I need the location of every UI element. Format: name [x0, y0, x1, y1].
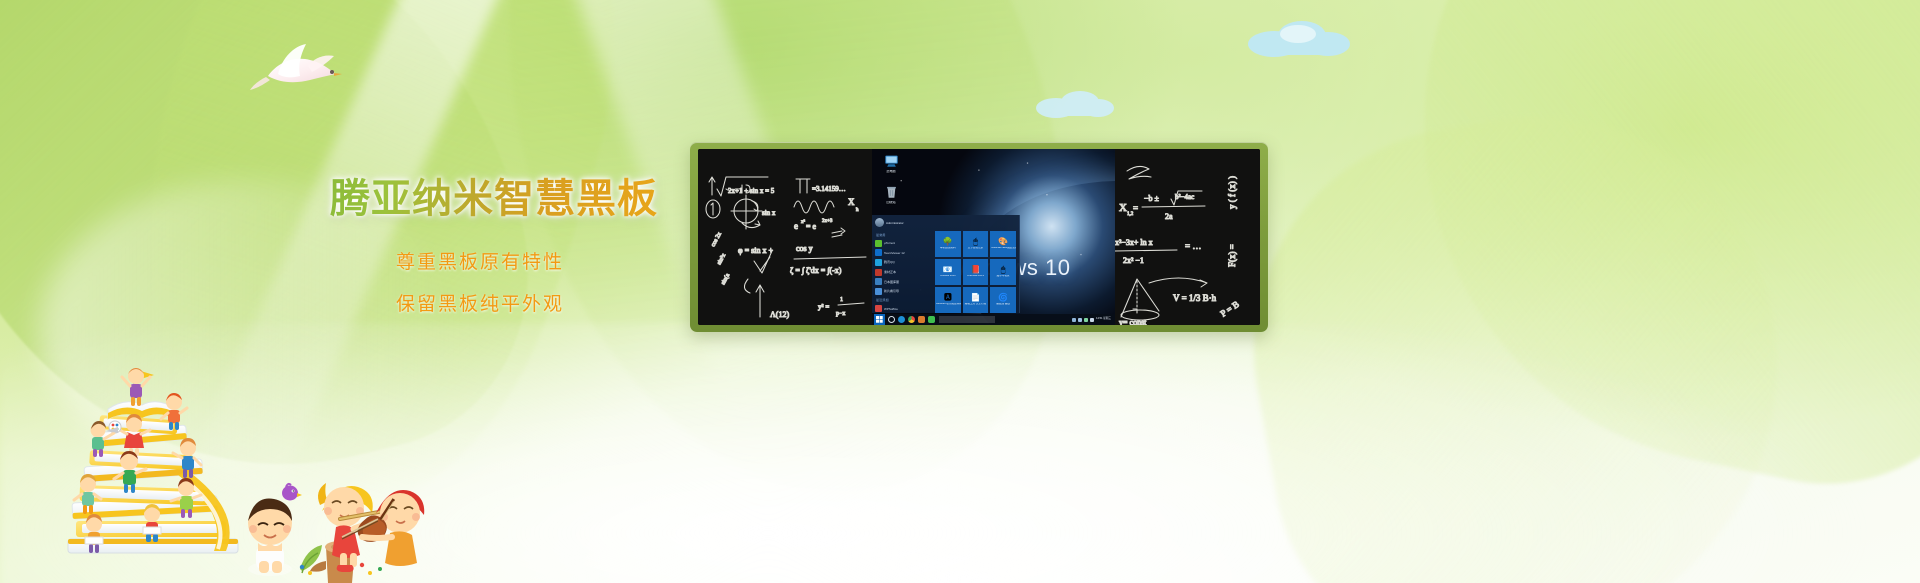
svg-text:=: = — [1133, 203, 1138, 213]
tile-label: 藏甲草花区 — [996, 275, 1011, 278]
qq-app-icon — [875, 259, 882, 266]
tile-label: Autocad 软件图纸转换工具 — [935, 303, 961, 306]
onenote-icon: 📕 — [971, 266, 981, 274]
app-list-item[interactable]: TeamViewer 12 — [875, 249, 930, 258]
svg-text:= …: = … — [1185, 241, 1201, 251]
autocad-icon: 🎨 — [998, 238, 1008, 246]
recycle-bin-label: 回收站 — [876, 201, 906, 205]
svg-text:Λ(12): Λ(12) — [770, 310, 789, 319]
svg-text:V = 1/3 B·h: V = 1/3 B·h — [1173, 293, 1217, 303]
confetti-dot — [378, 567, 382, 571]
app-list-item[interactable]: WPSoffice — [875, 304, 930, 313]
start-tile[interactable]: 📧 Outlook 2013 — [935, 259, 961, 285]
svg-text:2a: 2a — [1165, 212, 1173, 221]
app-list-item[interactable]: 新片看引导 — [875, 287, 930, 296]
confetti-dot — [368, 571, 372, 575]
svg-text:2x² −1: 2x² −1 — [1123, 256, 1144, 265]
svg-text:1: 1 — [840, 297, 843, 303]
teamviewer-app-icon — [875, 249, 882, 256]
windows-logo-icon — [876, 316, 883, 323]
kid-listening — [248, 498, 292, 576]
start-tile[interactable]: 🅰 Autocad 软件图纸转换工具 — [935, 287, 961, 313]
svg-text:φ = sin x +: φ = sin x + — [738, 246, 773, 255]
product-banner: 腾亚纳米智慧黑板 腾亚纳米智慧黑板 尊重黑板原有特性 保留黑板纯平外观 2x+1… — [0, 0, 1920, 583]
calc-icon: 🖱 — [1001, 266, 1006, 274]
taskbar[interactable]: 14:51 星期三 — [872, 314, 1115, 325]
tray-network-icon[interactable] — [1078, 318, 1082, 322]
section-label-most-used: 最常用 — [876, 233, 930, 237]
app-label: 腾讯QQ — [884, 260, 895, 264]
app-list-item[interactable]: 腾讯QQ — [875, 258, 930, 267]
app-label: 日本图库服 — [884, 280, 899, 284]
start-button[interactable] — [874, 314, 885, 325]
subtitle-line-1: 尊重黑板原有特性 — [330, 249, 630, 278]
app-list-item[interactable]: 素材正本 — [875, 268, 930, 277]
confetti-dot — [300, 565, 304, 569]
start-menu-tiles[interactable]: 🌳 本机器整资料 🖱 天下智能记录 🎨 Autocad cabo图纸管理 — [932, 215, 1019, 313]
system-tray[interactable]: 14:51 星期三 — [1072, 318, 1113, 322]
start-menu-app-list[interactable]: Administrator 最常用 µTorrent TeamViewer 12 — [872, 215, 932, 313]
user-name-label: Administrator — [886, 221, 904, 225]
leaf-shape-e — [1219, 79, 1821, 583]
tray-ime-icon[interactable] — [1090, 318, 1094, 322]
app-label: 新片看引导 — [884, 289, 899, 293]
trash-icon — [885, 185, 898, 199]
monitor-icon — [884, 155, 899, 168]
app-list-item[interactable]: µTorrent — [875, 239, 930, 248]
acrobat-icon: 🅰 — [944, 294, 952, 302]
svg-text:y² =: y² = — [818, 303, 829, 311]
chalk-area-left: 2x+1 + sin x = 5 =3.14159… sin x — [698, 149, 872, 325]
app-label: TeamViewer 12 — [884, 251, 905, 255]
tile-label: 本机器整资料 — [939, 247, 957, 250]
app-label: µTorrent — [884, 241, 895, 245]
start-tile[interactable]: 🖱 天下智能记录 — [963, 231, 989, 257]
app-list-item[interactable]: 日本图库服 — [875, 277, 930, 286]
svg-text:−b ±: −b ± — [1144, 194, 1160, 203]
svg-text:b²−4ac: b²−4ac — [1175, 193, 1194, 201]
svg-text:X: X — [1119, 202, 1127, 214]
children-music-illustration — [230, 443, 430, 583]
this-pc-icon[interactable]: 此电脑 — [876, 155, 906, 174]
tray-volume-icon[interactable] — [1084, 318, 1088, 322]
edge-icon[interactable] — [898, 316, 905, 323]
cloud-icon-small — [1030, 86, 1116, 120]
banner-text-block: 腾亚纳米智慧黑板 腾亚纳米智慧黑板 尊重黑板原有特性 保留黑板纯平外观 — [330, 176, 630, 319]
start-tile[interactable]: 🖱 藏甲草花区 — [990, 259, 1016, 285]
avatar — [875, 218, 884, 227]
wps-app-icon — [875, 305, 882, 312]
app-label: WPSoffice — [884, 307, 898, 311]
svg-text:= e: = e — [806, 222, 817, 231]
svg-text:X: X — [848, 197, 855, 207]
start-tile[interactable]: 📕 OneNote 2013 — [963, 259, 989, 285]
utorrent-app-icon — [875, 240, 882, 247]
chalk-formulas-right: X 1,2 = −b ± b²−4ac 2a x²−3x+ ln x 2x² −… — [1115, 149, 1260, 325]
svg-text:cos 2x: cos 2x — [710, 231, 723, 248]
svg-text:ζ = ∫ ζ'dx = ∫(-x): ζ = ∫ ζ'dx = ∫(-x) — [790, 266, 842, 275]
recycle-bin-icon[interactable]: 回收站 — [876, 185, 906, 205]
svg-text:2x+1 + sin x = 5: 2x+1 + sin x = 5 — [728, 187, 775, 195]
explorer-app-icon — [875, 278, 882, 285]
taskbar-search-box[interactable] — [939, 316, 995, 323]
ie-icon[interactable] — [918, 316, 925, 323]
svg-text:sin(a: sin(a — [720, 272, 732, 286]
confetti-dot — [360, 563, 364, 567]
windows-desktop: 此电脑 回收站 Windows 10 — [872, 149, 1115, 325]
tile-label: Outlook 2013 — [939, 275, 956, 278]
start-tile[interactable]: 🎨 Autocad cabo图纸管理 — [990, 231, 1016, 257]
confetti-dot — [308, 571, 312, 575]
svg-text:sin²x: sin²x — [716, 253, 727, 266]
folder-app-icon — [875, 288, 882, 295]
smart-blackboard-device: 2x+1 + sin x = 5 =3.14159… sin x — [690, 142, 1268, 332]
page-title: 腾亚纳米智慧黑板 — [330, 176, 658, 223]
this-pc-label: 此电脑 — [876, 170, 906, 174]
start-menu-user[interactable]: Administrator — [875, 218, 930, 227]
svg-text:x²−3x+ ln x: x²−3x+ ln x — [1115, 238, 1153, 247]
start-tile[interactable]: 🌀 播放器 播放 — [990, 287, 1016, 313]
svg-text:ħ: ħ — [856, 208, 859, 213]
svg-text:x²: x² — [801, 219, 806, 225]
svg-text:v= const: v= const — [1119, 318, 1147, 325]
bird-icon — [282, 484, 302, 501]
tile-label: 编辑工具 天空行版 — [964, 303, 987, 306]
cloud-icon-large — [1240, 14, 1358, 60]
chalk-area-right: X 1,2 = −b ± b²−4ac 2a x²−3x+ ln x 2x² −… — [1115, 149, 1260, 325]
section-label-recently-added: 最近添加 — [876, 298, 930, 302]
leaf-shape-d — [1360, 0, 1920, 517]
chalk-formulas-left: 2x+1 + sin x = 5 =3.14159… sin x — [698, 149, 872, 325]
start-menu[interactable]: Administrator 最常用 µTorrent TeamViewer 12 — [872, 215, 1020, 313]
dove-icon — [248, 36, 344, 98]
svg-text:2x+3: 2x+3 — [822, 219, 833, 224]
svg-text:cos y: cos y — [796, 244, 813, 253]
svg-text:sin x: sin x — [762, 209, 776, 217]
note-icon: 🖱 — [973, 238, 978, 246]
tray-chevron-icon[interactable] — [1072, 318, 1076, 322]
player-icon: 🌀 — [998, 294, 1008, 302]
wps-icon[interactable] — [928, 316, 935, 323]
tile-label: Autocad cabo图纸管理 — [990, 247, 1016, 250]
subtitle-line-2: 保留黑板纯平外观 — [330, 291, 630, 320]
svg-text:F(x) =: F(x) = — [1227, 244, 1237, 267]
tile-label: 天下智能记录 — [967, 247, 985, 250]
svg-text:e: e — [794, 221, 798, 231]
tile-label: 播放器 播放 — [995, 303, 1011, 306]
cortana-icon[interactable] — [888, 316, 895, 323]
tile-label: OneNote 2013 — [966, 275, 985, 278]
svg-text:y ( f (x) ): y ( f (x) ) — [1227, 176, 1237, 209]
start-tile[interactable]: 📄 编辑工具 天空行版 — [963, 287, 989, 313]
svg-text:P = B: P = B — [1219, 299, 1241, 319]
chrome-icon[interactable] — [908, 316, 915, 323]
tree-icon: 🌳 — [943, 238, 953, 246]
outlook-icon: 📧 — [943, 266, 953, 274]
svg-text:p−x: p−x — [836, 311, 845, 317]
pdf-icon: 📄 — [971, 294, 981, 302]
taskbar-clock[interactable]: 14:51 星期三 — [1096, 318, 1111, 321]
svg-text:=3.14159…: =3.14159… — [812, 185, 846, 193]
app-label: 素材正本 — [884, 270, 896, 274]
start-tile[interactable]: 🌳 本机器整资料 — [935, 231, 961, 257]
word-app-icon — [875, 269, 882, 276]
blackboard-screen: 2x+1 + sin x = 5 =3.14159… sin x — [698, 149, 1260, 325]
